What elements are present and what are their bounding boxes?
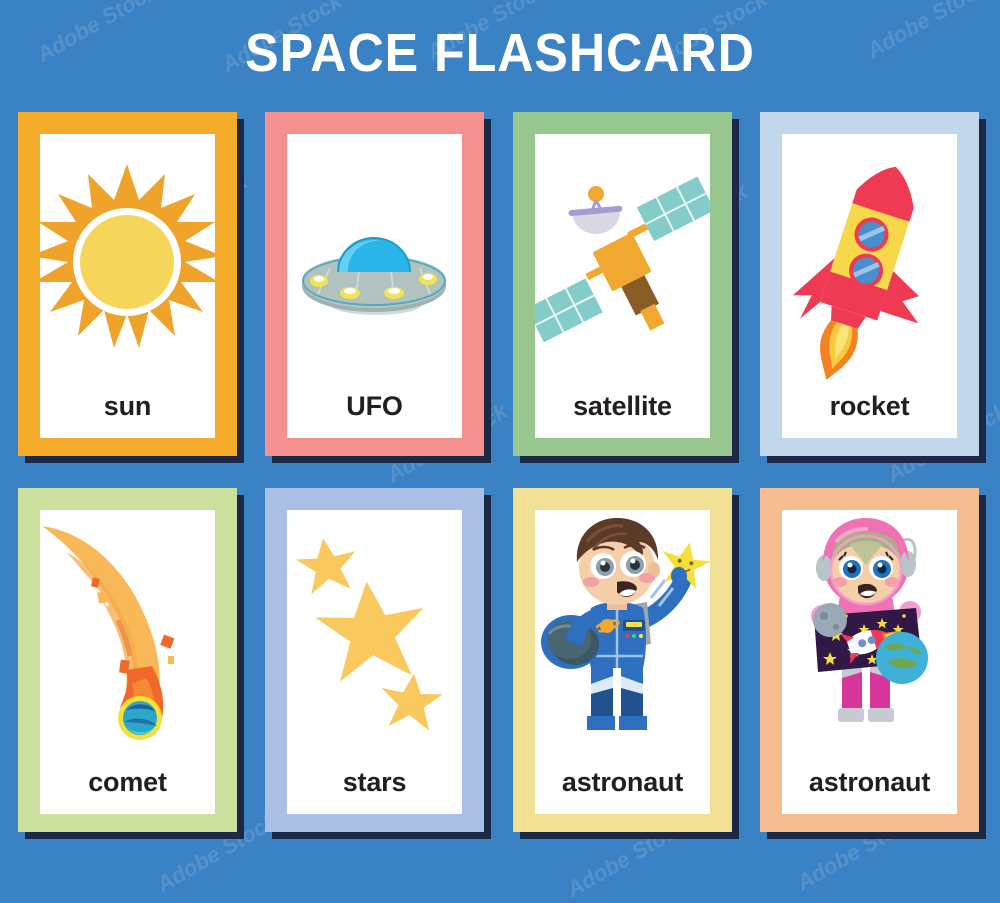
flashcard-stars[interactable]: stars [265, 488, 484, 832]
flashcard-astronaut-boy[interactable]: astronaut [513, 488, 732, 832]
card-label: UFO [287, 391, 462, 422]
card-inner: astronaut [535, 510, 710, 814]
flashcard-poster: Adobe Stock Adobe Stock Adobe Stock Adob… [0, 0, 1000, 873]
astronaut-girl-icon [782, 510, 957, 768]
card-inner: rocket [782, 134, 957, 438]
flashcard-ufo[interactable]: UFO [265, 112, 484, 456]
stars-icon [287, 510, 462, 768]
rocket-icon [782, 134, 957, 392]
card-label: comet [40, 767, 215, 798]
card-label: stars [287, 767, 462, 798]
card-label: astronaut [782, 767, 957, 798]
flashcard-astronaut-girl[interactable]: astronaut [760, 488, 979, 832]
page-title: SPACE FLASHCARD [35, 26, 965, 80]
card-label: astronaut [535, 767, 710, 798]
card-inner: comet [40, 510, 215, 814]
card-inner: satellite [535, 134, 710, 438]
flashcard-sun[interactable]: sun [18, 112, 237, 456]
card-inner: astronaut [782, 510, 957, 814]
sun-icon [40, 134, 215, 392]
card-inner: UFO [287, 134, 462, 438]
card-inner: stars [287, 510, 462, 814]
comet-icon [40, 510, 215, 768]
astronaut-boy-icon [535, 510, 710, 768]
card-label: rocket [782, 391, 957, 422]
flashcard-comet[interactable]: comet [18, 488, 237, 832]
ufo-icon [287, 134, 462, 392]
flashcard-satellite[interactable]: satellite [513, 112, 732, 456]
card-inner: sun [40, 134, 215, 438]
flashcard-rocket[interactable]: rocket [760, 112, 979, 456]
satellite-icon [535, 134, 710, 392]
card-label: sun [40, 391, 215, 422]
card-label: satellite [535, 391, 710, 422]
